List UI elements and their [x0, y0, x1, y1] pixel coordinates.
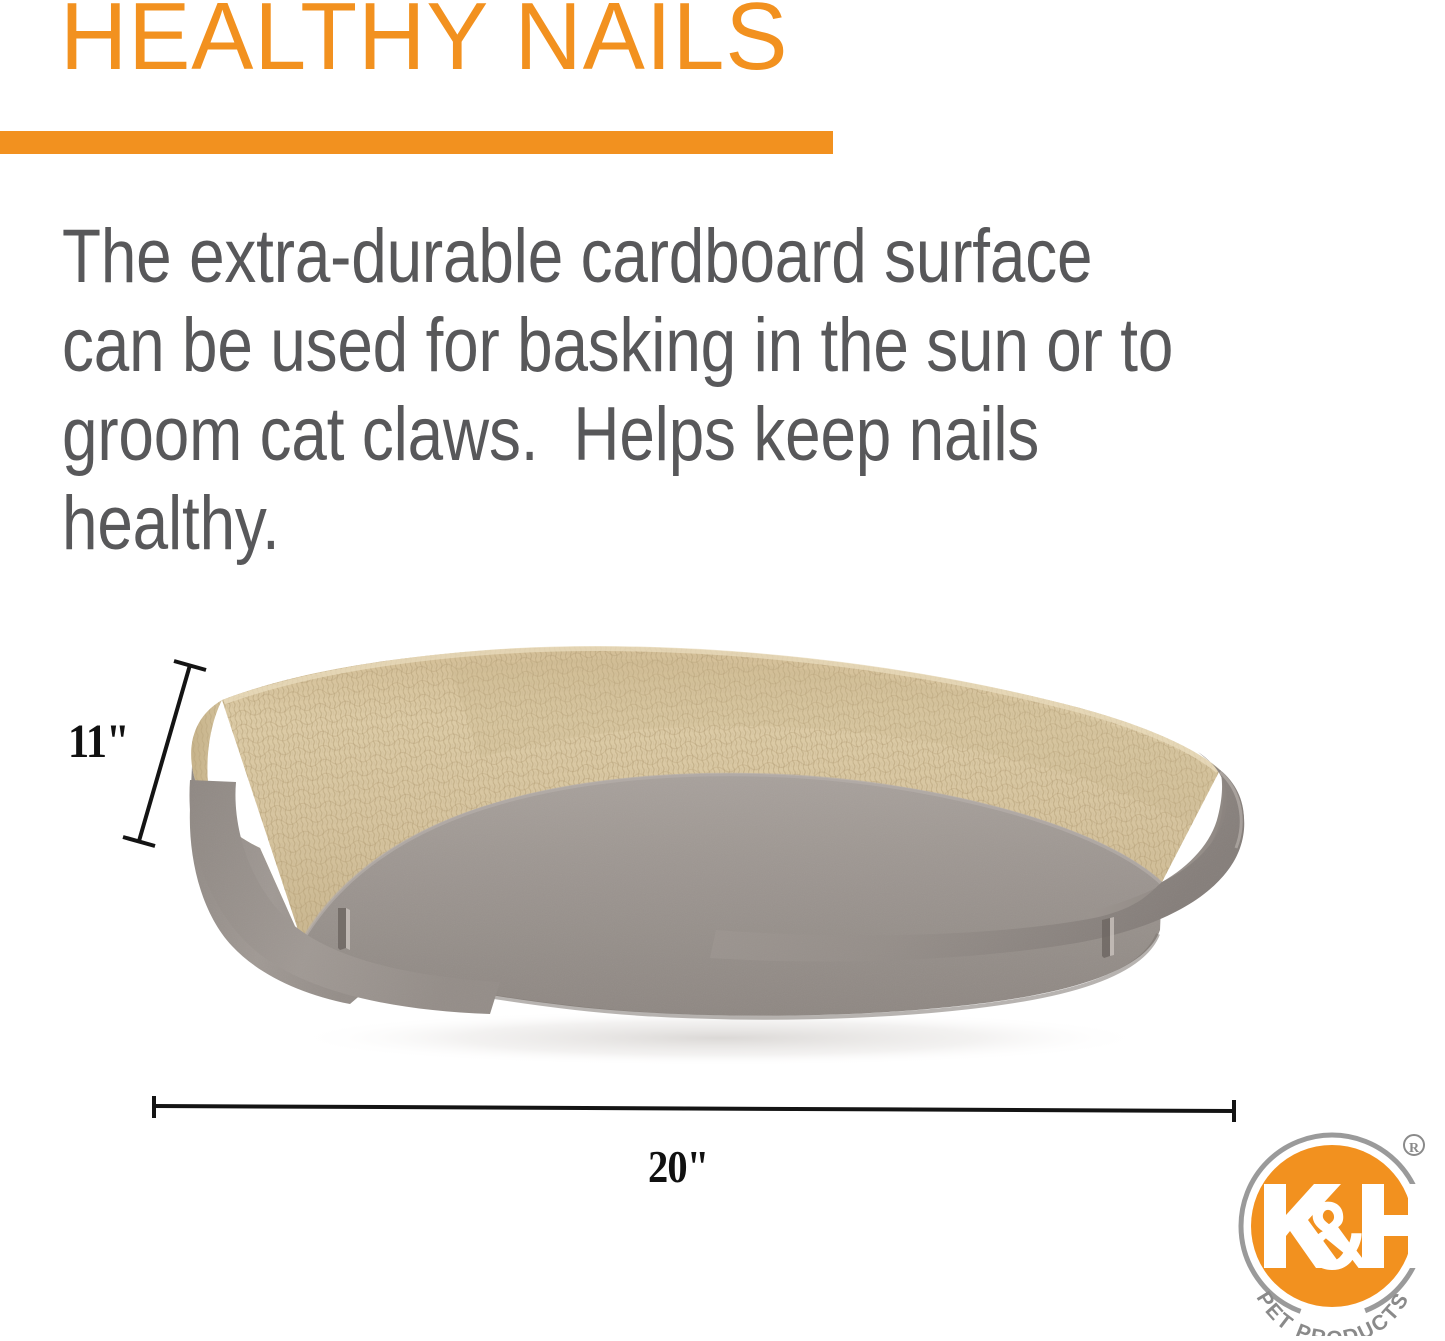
kh-pet-products-logo-svg: PET PRODUCTS R — [1228, 1118, 1444, 1336]
scratcher-lounge-svg — [150, 630, 1270, 1080]
width-dimension-line — [154, 1096, 1234, 1122]
svg-text:R: R — [1409, 1141, 1420, 1156]
product-illustration — [150, 630, 1270, 1080]
description-text: The extra-durable cardboard surface can … — [62, 212, 1188, 568]
page-title: HEALTHY NAILS — [60, 0, 789, 90]
brand-logo: PET PRODUCTS R — [1228, 1118, 1444, 1336]
height-dimension-label: 11" — [68, 714, 129, 769]
registered-trademark-icon: R — [1404, 1135, 1424, 1156]
width-dimension-label: 20" — [648, 1140, 708, 1193]
title-underline-bar — [0, 131, 833, 154]
